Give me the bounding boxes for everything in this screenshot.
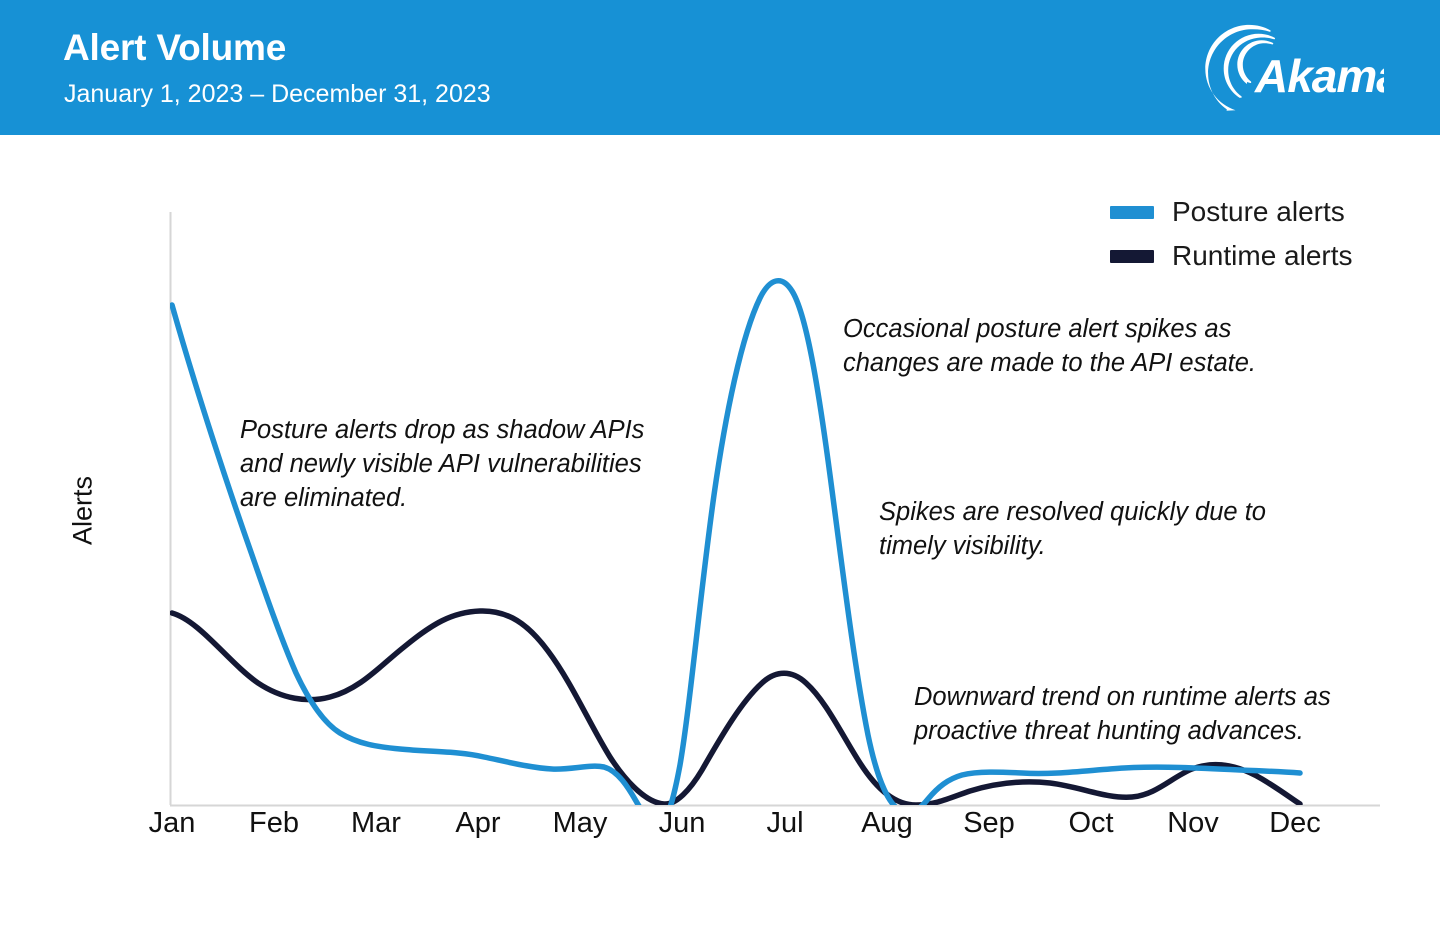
legend-item-posture-alerts[interactable]: Posture alerts bbox=[1110, 195, 1353, 229]
legend-swatch-posture-icon bbox=[1110, 206, 1154, 219]
x-tick-jun: Jun bbox=[659, 807, 706, 840]
akamai-logo: Akamai bbox=[1192, 24, 1384, 112]
x-tick-nov: Nov bbox=[1167, 807, 1219, 840]
legend-label-posture-alerts: Posture alerts bbox=[1172, 198, 1345, 226]
page-title: Alert Volume bbox=[63, 27, 286, 69]
date-range-subtitle: January 1, 2023 – December 31, 2023 bbox=[64, 80, 491, 109]
x-tick-mar: Mar bbox=[351, 807, 401, 840]
svg-text:Akamai: Akamai bbox=[1254, 50, 1384, 102]
annotation-posture-spikes: Occasional posture alert spikes as chang… bbox=[843, 312, 1256, 380]
x-tick-aug: Aug bbox=[861, 807, 913, 840]
x-tick-dec: Dec bbox=[1269, 807, 1321, 840]
annotation-posture-drop: Posture alerts drop as shadow APIs and n… bbox=[240, 413, 644, 515]
x-tick-may: May bbox=[553, 807, 608, 840]
chart-legend: Posture alerts Runtime alerts bbox=[1110, 195, 1353, 273]
x-tick-oct: Oct bbox=[1068, 807, 1113, 840]
legend-item-runtime-alerts[interactable]: Runtime alerts bbox=[1110, 239, 1353, 273]
page-header: Alert Volume January 1, 2023 – December … bbox=[0, 0, 1440, 135]
annotation-runtime-downward: Downward trend on runtime alerts as proa… bbox=[914, 680, 1331, 748]
x-tick-jan: Jan bbox=[149, 807, 196, 840]
annotation-spikes-resolved: Spikes are resolved quickly due to timel… bbox=[879, 495, 1266, 563]
legend-label-runtime-alerts: Runtime alerts bbox=[1172, 242, 1353, 270]
x-tick-apr: Apr bbox=[455, 807, 500, 840]
y-axis-label: Alerts bbox=[68, 426, 99, 596]
x-tick-feb: Feb bbox=[249, 807, 299, 840]
legend-swatch-runtime-icon bbox=[1110, 250, 1154, 263]
x-tick-sep: Sep bbox=[963, 807, 1015, 840]
chart-container: Alerts Jan Feb Mar Apr May Jun Jul Aug S… bbox=[0, 135, 1440, 925]
x-tick-jul: Jul bbox=[766, 807, 803, 840]
